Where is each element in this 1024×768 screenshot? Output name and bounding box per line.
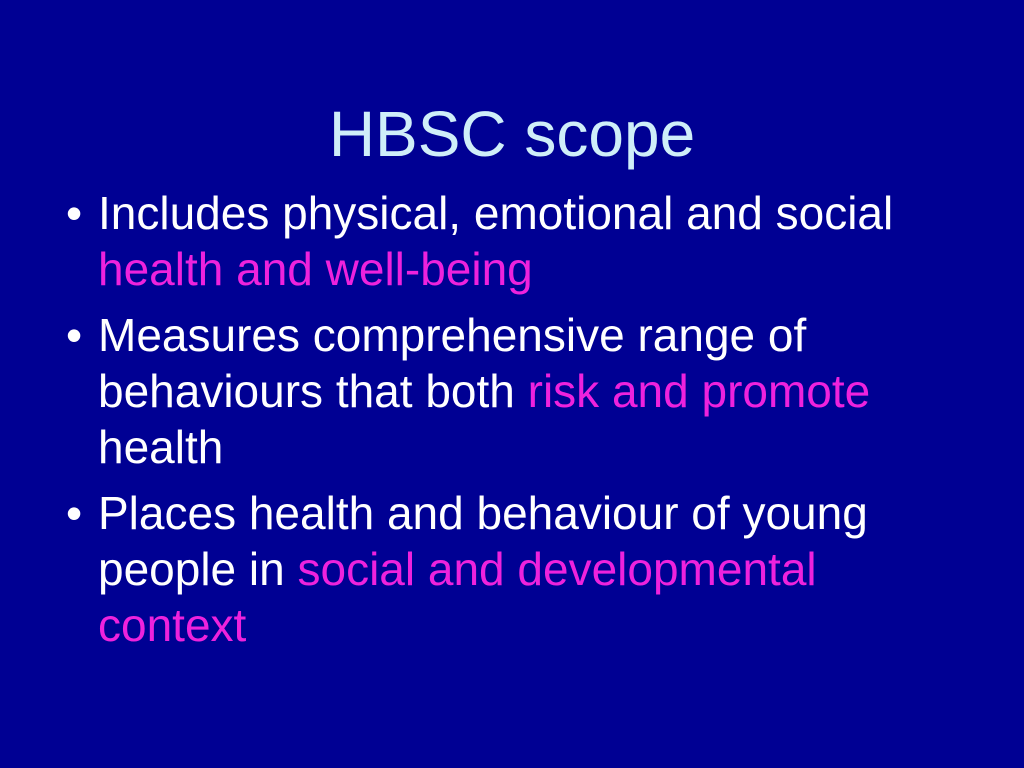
- slide-title: HBSC scope: [0, 99, 1024, 169]
- bullet-text-2: Measures comprehensive range of behaviou…: [98, 307, 910, 475]
- bullet-2-segment-accent: risk and promote: [528, 365, 871, 417]
- bullet-1-segment-plain: Includes physical, emotional and social: [98, 187, 893, 239]
- bullet-item-1: • Includes physical, emotional and socia…: [56, 185, 968, 297]
- bullet-item-3: • Places health and behaviour of young p…: [56, 485, 968, 653]
- presentation-slide: HBSC scope • Includes physical, emotiona…: [0, 0, 1024, 768]
- bullet-item-2: • Measures comprehensive range of behavi…: [56, 307, 968, 475]
- bullet-text-3: Places health and behaviour of young peo…: [98, 485, 888, 653]
- bullet-text-1: Includes physical, emotional and social …: [98, 185, 898, 297]
- bullet-marker-icon: •: [66, 485, 90, 541]
- bullet-2-segment-plain-tail: health: [98, 421, 223, 473]
- bullet-1-segment-accent: health and well-being: [98, 243, 533, 295]
- bullet-marker-icon: •: [66, 185, 90, 241]
- bullet-marker-icon: •: [66, 307, 90, 363]
- bullet-list: • Includes physical, emotional and socia…: [56, 185, 968, 653]
